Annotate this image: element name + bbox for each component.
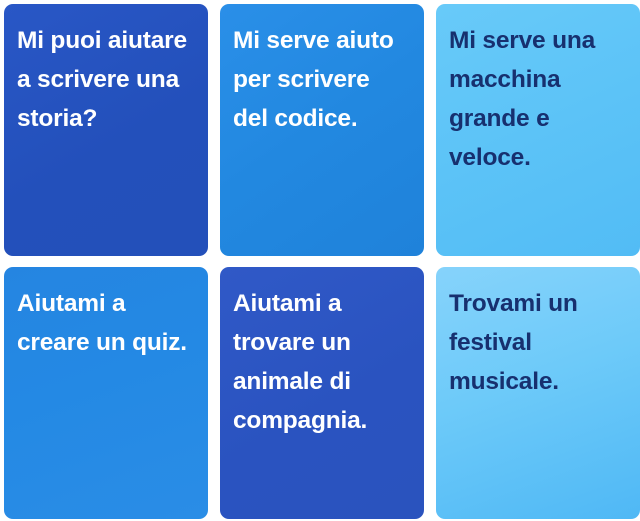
suggestion-card-find-a-pet[interactable]: Aiutami a trovare un animale di compagni… xyxy=(220,267,424,519)
suggestion-card-text: Mi puoi aiutare a scrivere una storia? xyxy=(17,21,194,138)
suggestion-card-write-a-story[interactable]: Mi puoi aiutare a scrivere una storia? xyxy=(4,4,208,256)
suggestion-card-text: Mi serve aiuto per scrivere del codice. xyxy=(233,21,410,138)
suggestion-card-help-with-code[interactable]: Mi serve aiuto per scrivere del codice. xyxy=(220,4,424,256)
suggestion-card-text: Aiutami a trovare un animale di compagni… xyxy=(233,284,410,440)
suggestion-card-text: Aiutami a creare un quiz. xyxy=(17,284,194,362)
suggestion-card-big-fast-machine[interactable]: Mi serve una macchina grande e veloce. xyxy=(436,4,640,256)
suggestion-card-grid: Mi puoi aiutare a scrivere una storia? M… xyxy=(0,0,640,521)
suggestion-card-text: Trovami un festival musicale. xyxy=(449,284,626,401)
suggestion-card-find-music-festival[interactable]: Trovami un festival musicale. xyxy=(436,267,640,519)
suggestion-card-text: Mi serve una macchina grande e veloce. xyxy=(449,21,626,177)
suggestion-card-create-a-quiz[interactable]: Aiutami a creare un quiz. xyxy=(4,267,208,519)
